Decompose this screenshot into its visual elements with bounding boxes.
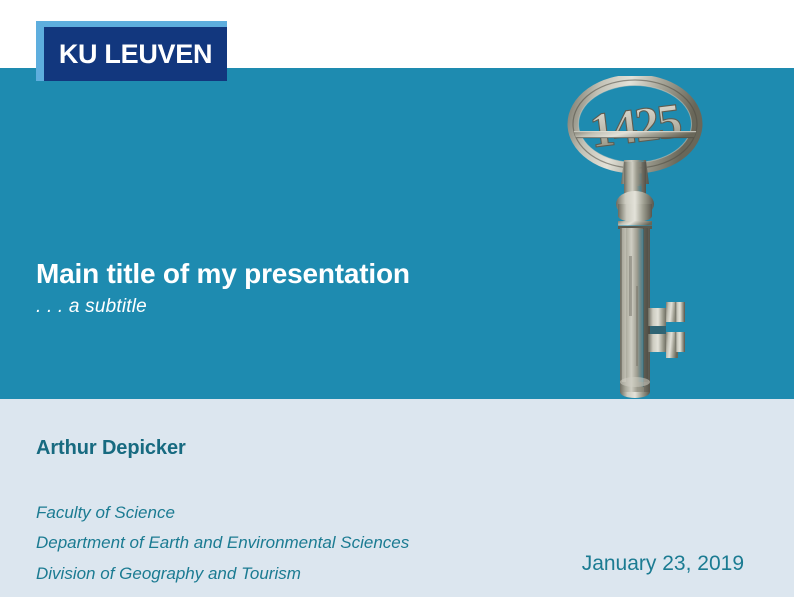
title-slide: KU LEUVEN: [0, 0, 794, 597]
author-name: Arthur Depicker: [36, 437, 186, 460]
logo-label: KU LEUVEN: [59, 41, 212, 68]
ku-leuven-logo: KU LEUVEN: [36, 21, 227, 81]
affiliation-block: Faculty of Science Department of Earth a…: [36, 498, 409, 589]
logo-box: KU LEUVEN: [44, 27, 227, 81]
affiliation-line-division: Division of Geography and Tourism: [36, 559, 409, 589]
teal-hero-band: [0, 68, 794, 399]
presentation-date: January 23, 2019: [582, 552, 744, 576]
page-subtitle: . . . a subtitle: [36, 296, 556, 319]
affiliation-line-department: Department of Earth and Environmental Sc…: [36, 528, 409, 558]
title-block: Main title of my presentation . . . a su…: [36, 258, 556, 319]
affiliation-line-faculty: Faculty of Science: [36, 498, 409, 528]
page-title: Main title of my presentation: [36, 258, 556, 290]
